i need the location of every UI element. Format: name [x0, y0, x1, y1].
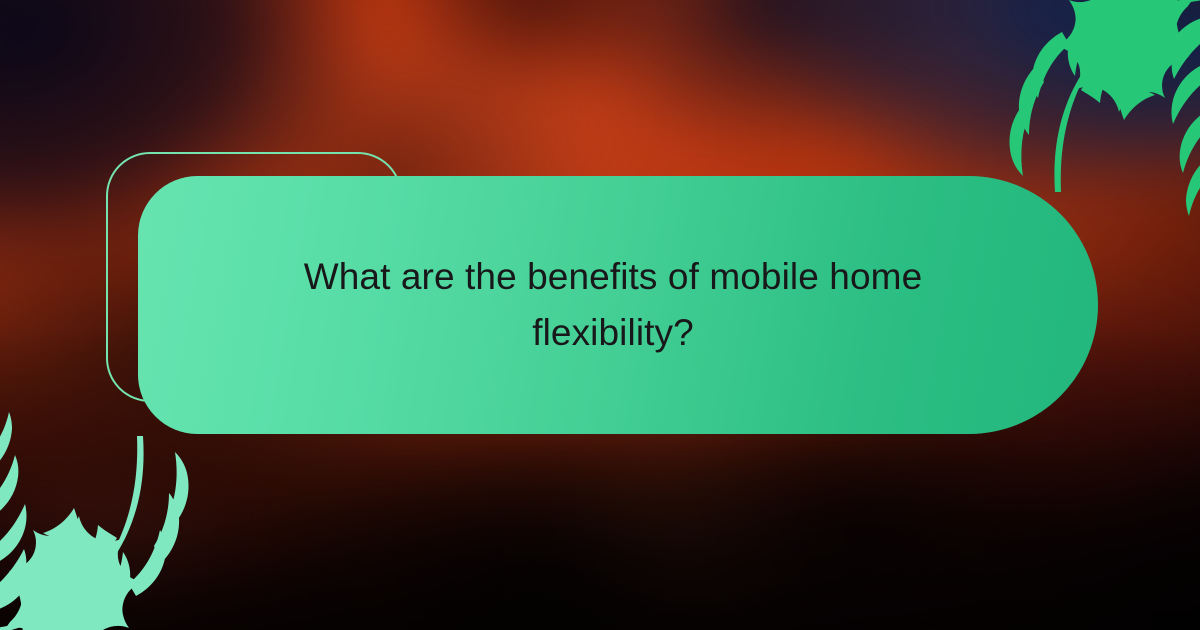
question-text: What are the benefits of mobile home fle… — [273, 249, 953, 361]
question-card: What are the benefits of mobile home fle… — [138, 176, 1098, 434]
og-image-canvas: What are the benefits of mobile home fle… — [0, 0, 1200, 630]
